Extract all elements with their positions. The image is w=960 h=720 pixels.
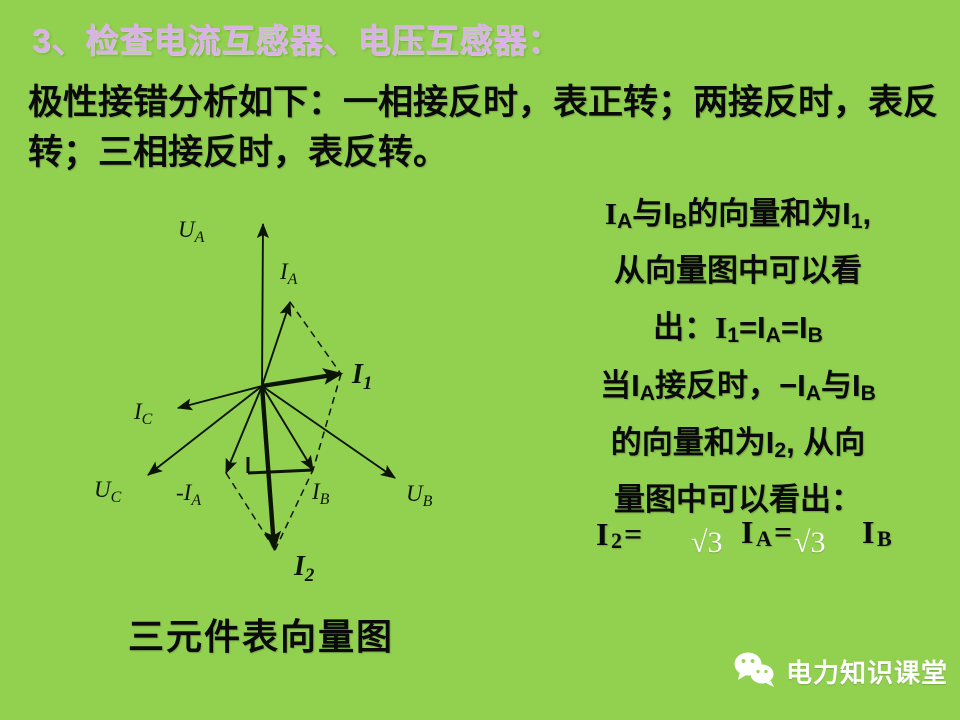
explanation-comma: , — [862, 196, 871, 231]
formula-row: I 2 = √3 I A = √3 I B — [528, 512, 948, 582]
formula-IA: I — [741, 514, 753, 551]
body-paragraph: 极性接错分析如下：一相接反时，表正转；两接反时，表反转；三相接反时，表反转。 — [28, 78, 940, 177]
phasor-vectors-bold — [262, 374, 339, 547]
explanation-line-3: 出：I1=IA=IB — [528, 306, 948, 351]
explanation-text-9: 的向量和为I — [611, 425, 775, 460]
formula-IB-sub: B — [877, 526, 892, 552]
explanation-I1: I — [715, 310, 727, 345]
vector-I1 — [262, 374, 339, 386]
slide-canvas: 3、检查电流互感器、电压互感器： 极性接错分析如下：一相接反时，表正转；两接反时… — [0, 0, 960, 720]
construction-dashed-lines — [226, 302, 341, 550]
vector-IA — [262, 302, 290, 386]
label-IB: IB — [311, 479, 330, 508]
vector-UC — [148, 386, 262, 475]
wechat-watermark: 电力知识课堂 — [733, 650, 948, 693]
label-UC: UC — [94, 477, 122, 506]
vector-UA — [262, 224, 263, 386]
label-UB: UB — [406, 481, 433, 510]
sub-b2: B — [808, 324, 823, 347]
phasor-diagram: UA IA I1 IC UC -IA IB UB I2 — [90, 185, 530, 585]
formula-I2-sub: 2 — [611, 528, 622, 554]
formula-I2: I — [596, 516, 608, 553]
sub-1: 1 — [851, 210, 863, 233]
formula-IA-sub: A — [756, 526, 772, 552]
formula-sqrt3-second: √3 — [794, 526, 825, 560]
sub-b: B — [672, 210, 687, 233]
explanation-text-10: , 从向 — [786, 425, 865, 460]
explanation-IA: I — [605, 196, 617, 231]
sub-2: 2 — [774, 439, 786, 462]
formula-equals-1: = — [624, 516, 642, 553]
wechat-brand-label: 电力知识课堂 — [786, 653, 948, 690]
explanation-text-2: 的向量和为I — [687, 196, 851, 231]
explanation-line-5: 的向量和为I2, 从向 — [528, 421, 948, 466]
explanation-negIA: −I — [779, 368, 806, 403]
explanation-line-1: IA与IB的向量和为I1, — [528, 192, 948, 237]
formula-sqrt3-first: √3 — [691, 526, 722, 560]
vector-UB — [262, 386, 395, 478]
label-IA: IA — [279, 259, 298, 288]
explanation-text-4: =I — [739, 310, 766, 345]
right-angle-mark — [248, 457, 313, 473]
vector-I2 — [262, 386, 274, 547]
label-UA: UA — [178, 217, 205, 246]
label-I1: I1 — [351, 359, 372, 394]
phasor-diagram-svg: UA IA I1 IC UC -IA IB UB I2 — [90, 185, 530, 585]
explanation-line-4: 当IA接反时，−IA与IB — [528, 364, 948, 409]
explanation-block: IA与IB的向量和为I1, 从向量图中可以看 出：I1=IA=IB 当IA接反时… — [528, 192, 948, 535]
vector-IB — [262, 386, 313, 470]
explanation-text-5: =I — [781, 310, 808, 345]
sub-a4: A — [806, 381, 821, 404]
formula-equals-2: = — [774, 514, 792, 551]
sub-b3: B — [861, 381, 876, 404]
page-title: 3、检查电流互感器、电压互感器： — [32, 14, 561, 62]
explanation-text-1: 与I — [632, 196, 672, 231]
label-negIA: -IA — [176, 480, 201, 509]
explanation-text-8: 与I — [821, 368, 861, 403]
explanation-text-7: 接反时， — [655, 368, 779, 403]
explanation-text-3: 出： — [653, 310, 715, 345]
label-IC: IC — [133, 399, 153, 428]
explanation-text-6: 当I — [600, 368, 640, 403]
diagram-caption: 三元件表向量图 — [128, 608, 394, 660]
wechat-icon — [733, 650, 777, 693]
label-I2: I2 — [293, 551, 315, 585]
sub-a: A — [617, 210, 632, 233]
formula-IB: I — [862, 514, 874, 551]
sub-a2: A — [766, 324, 781, 347]
phasor-vectors-thin — [148, 224, 395, 478]
sub-a3: A — [640, 381, 655, 404]
explanation-line-2: 从向量图中可以看 — [528, 249, 948, 294]
sub-1b: 1 — [727, 324, 739, 347]
